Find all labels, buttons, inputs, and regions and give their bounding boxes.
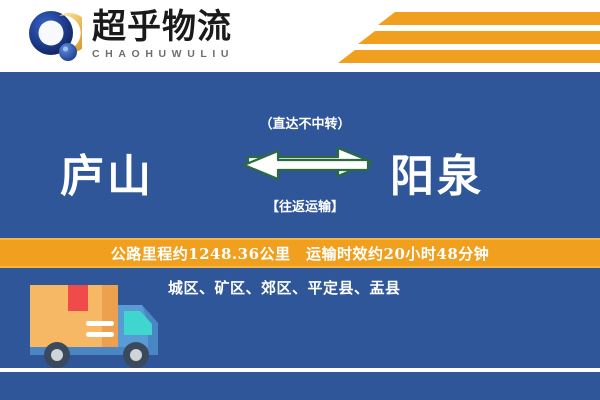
decor-stripe-1 [378, 12, 600, 25]
origin-city: 庐山 [60, 140, 154, 204]
double-arrow-icon [220, 140, 390, 186]
moon-circle-logo-icon [26, 9, 82, 65]
direct-note: （直达不中转） [225, 113, 385, 132]
header: 超乎物流 CHAOHUWULIU [0, 0, 600, 72]
roundtrip-note: 【往返运输】 [225, 196, 385, 215]
brand-text: 超乎物流 CHAOHUWULIU [92, 8, 272, 60]
destination-city: 阳泉 [390, 140, 484, 204]
decor-stripe-2 [358, 31, 600, 44]
delivery-truck-icon [24, 279, 174, 374]
main-panel: 庐山 （直达不中转） 【往返运输】 阳泉 公路里程约1248.36公里 运输时效… [0, 72, 600, 400]
distance-duration-text: 公路里程约1248.36公里 运输时效约20小时48分钟 [111, 243, 490, 264]
distance-duration-bar: 公路里程约1248.36公里 运输时效约20小时48分钟 [0, 238, 600, 268]
brand-name-cn: 超乎物流 [92, 8, 272, 46]
route-middle: （直达不中转） 【往返运输】 [225, 112, 385, 222]
decor-stripe-3 [338, 50, 600, 63]
brand-name-en: CHAOHUWULIU [92, 48, 272, 60]
road-line-icon [0, 368, 600, 372]
logistics-route-banner: 超乎物流 CHAOHUWULIU 庐山 （直达不中转） 【往返运输 [0, 0, 600, 400]
route-row: 庐山 （直达不中转） 【往返运输】 阳泉 [0, 112, 600, 222]
coverage-districts: 城区、矿区、郊区、平定县、盂县 [168, 277, 401, 298]
